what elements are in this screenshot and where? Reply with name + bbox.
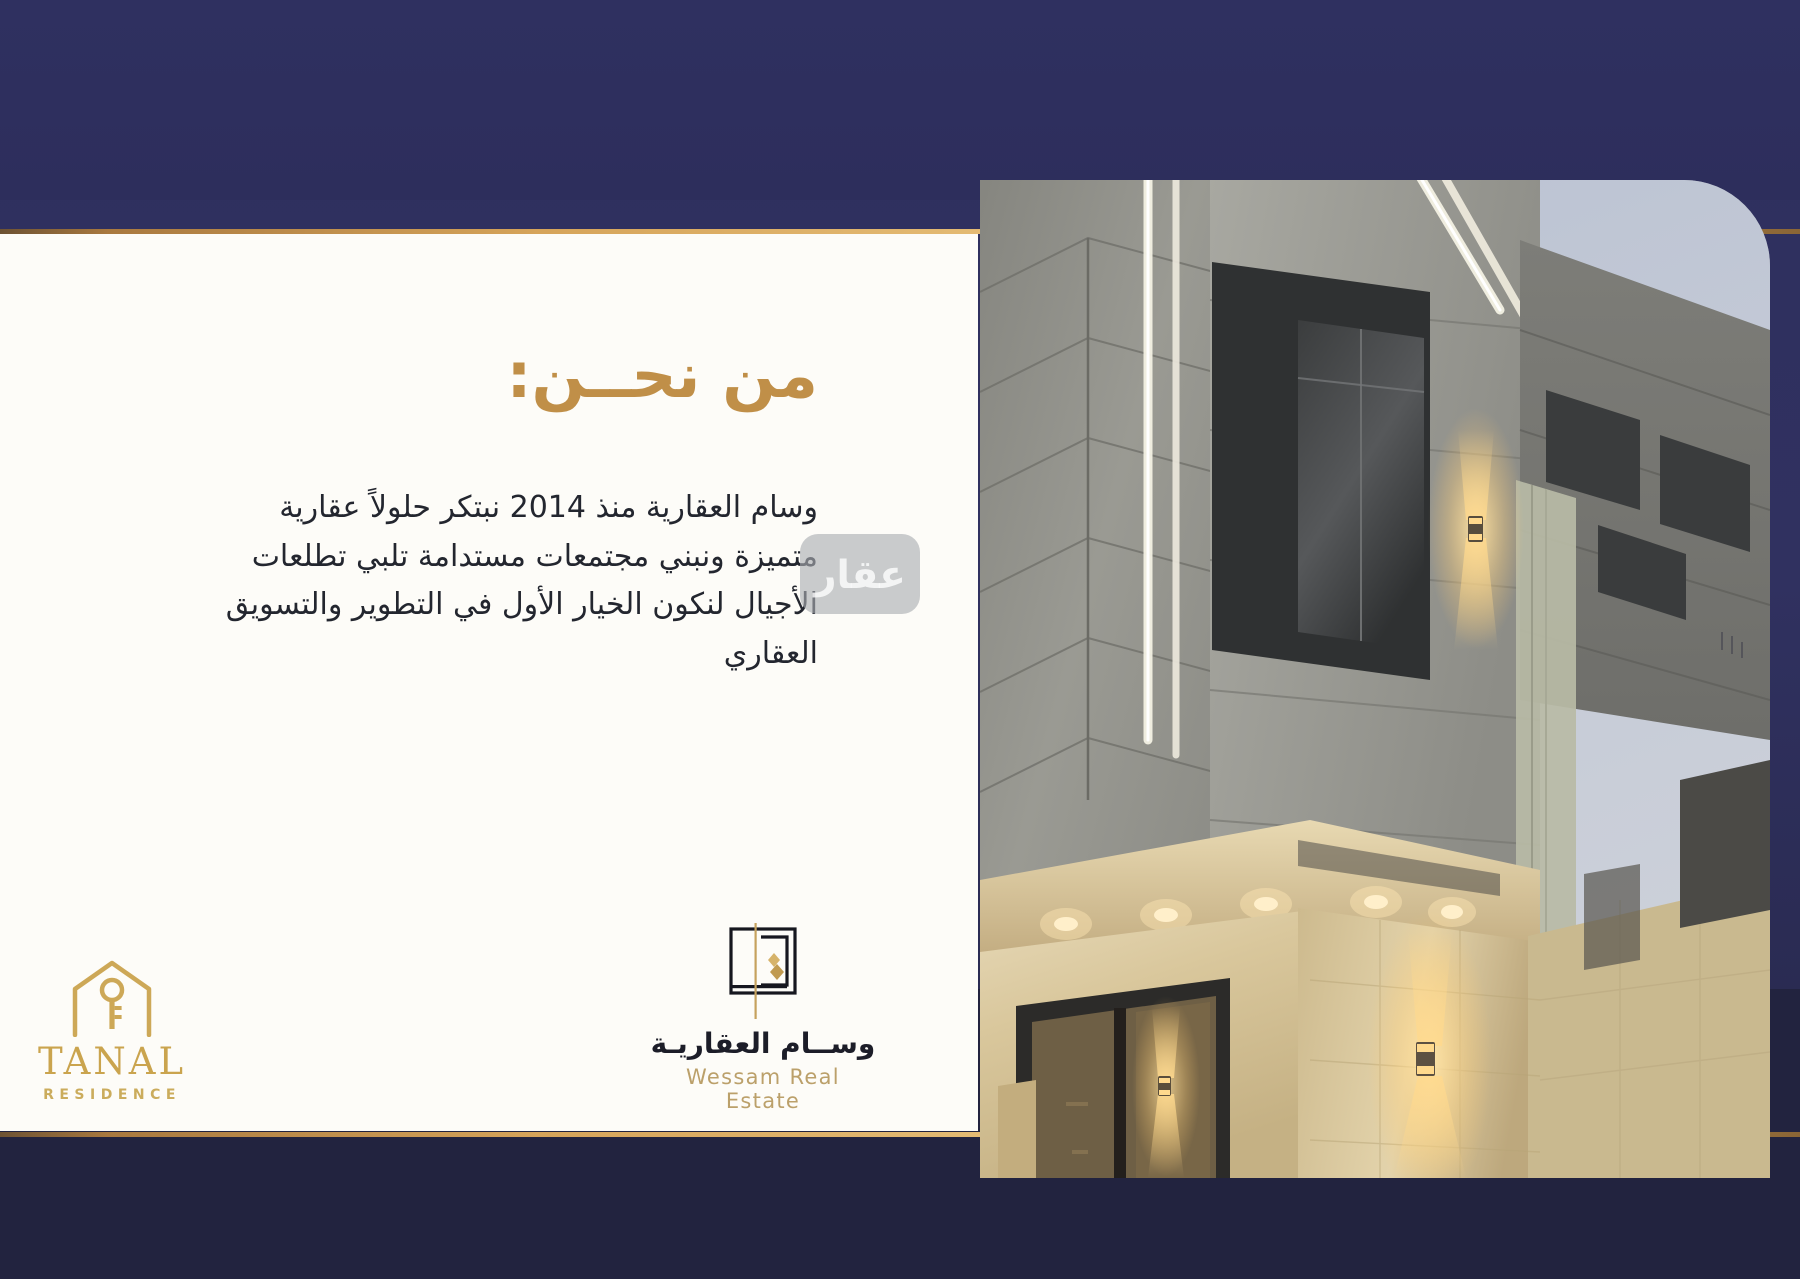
tanal-wordmark: TANAL: [22, 1043, 202, 1080]
villa-photo-illustration: [980, 180, 1770, 1178]
content-card: من نحــن: وسام العقارية منذ 2014 نبتكر ح…: [0, 234, 978, 1131]
house-key-icon: [69, 959, 155, 1037]
slide-root: من نحــن: وسام العقارية منذ 2014 نبتكر ح…: [0, 0, 1800, 1279]
page-title: من نحــن:: [506, 339, 818, 412]
watermark-text: عقار: [814, 556, 906, 595]
watermark-badge: عقار: [800, 534, 920, 614]
wessam-real-estate-logo: وســام العقاريـة Wessam Real Estate: [648, 923, 878, 1113]
wessam-name-arabic: وســام العقاريـة: [648, 1029, 878, 1060]
wessam-name-english: Wessam Real Estate: [648, 1065, 878, 1113]
villa-photo: [980, 180, 1770, 1178]
about-us-paragraph: وسام العقارية منذ 2014 نبتكر حلولاً عقار…: [208, 484, 818, 678]
tanal-residence-logo: TANAL RESIDENCE: [22, 959, 202, 1103]
wessam-monogram-icon: [717, 923, 809, 1019]
navy-top-band: [0, 0, 1800, 200]
tanal-tagline: RESIDENCE: [22, 1087, 202, 1103]
